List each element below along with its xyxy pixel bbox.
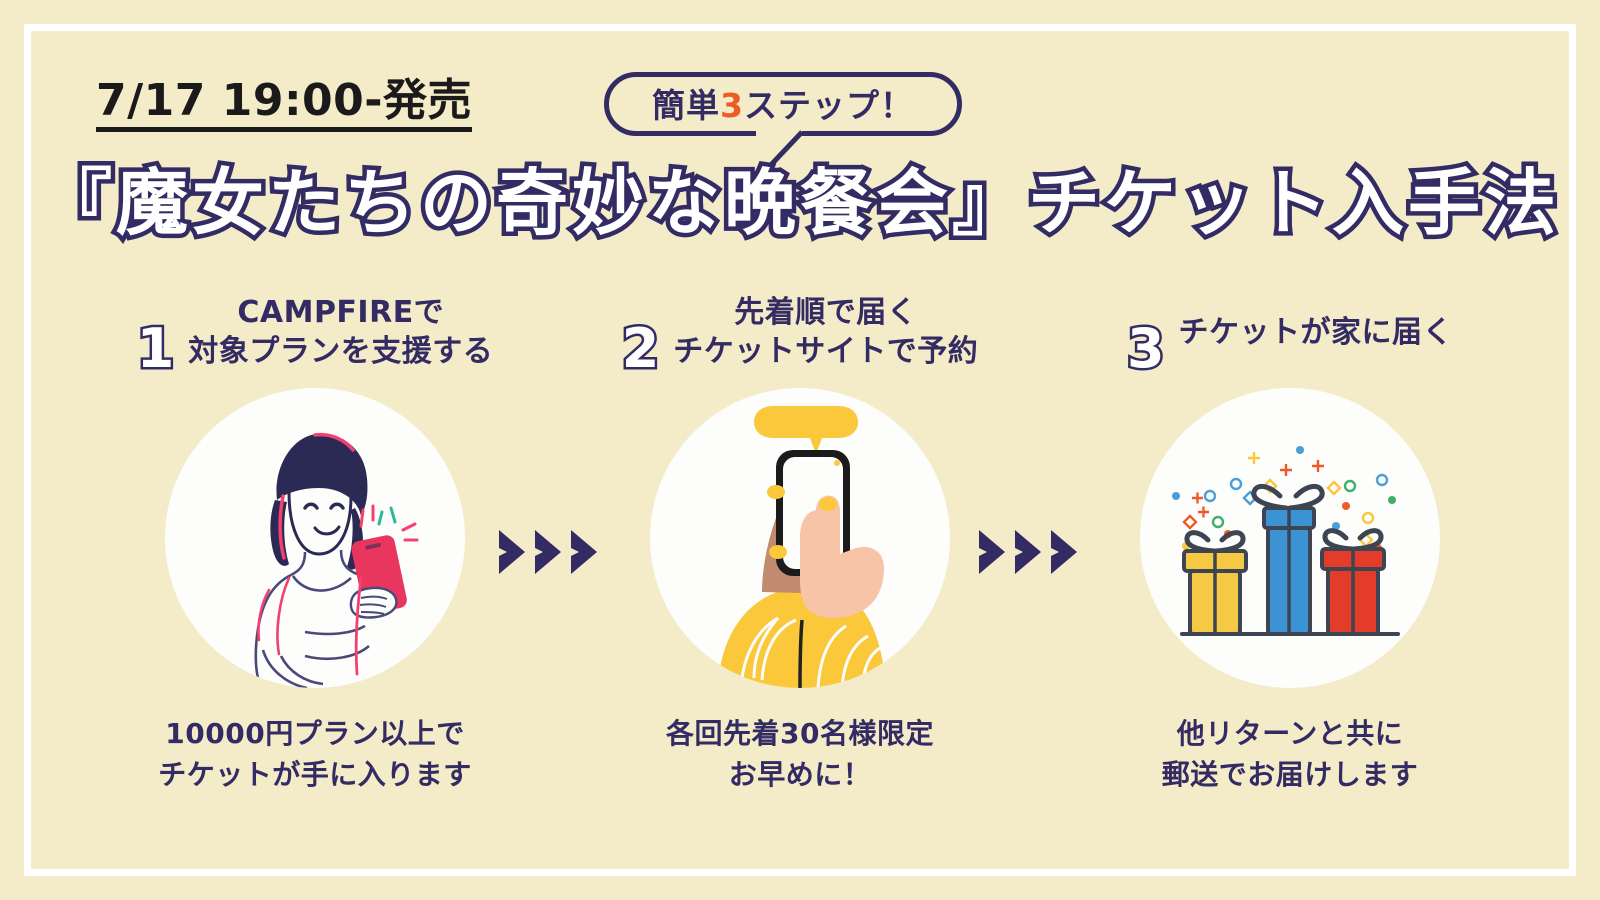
poster-canvas: 7/17 19:00-発売 簡単3ステップ！ 『魔女たちの奇妙な晩餐会』チケット… bbox=[0, 0, 1600, 900]
step-2-caption-line-2: お早めに！ bbox=[565, 755, 1035, 796]
easy-three-steps-bubble: 簡単3ステップ！ bbox=[604, 72, 962, 136]
gift-boxes-icon bbox=[1140, 388, 1440, 688]
step-2-number: 2 bbox=[622, 322, 660, 380]
step-2-title: 先着順で届く チケットサイトで予約 bbox=[673, 293, 978, 371]
step-3-caption: 他リターンと共に 郵送でお届けします bbox=[1055, 714, 1525, 795]
steps-row: 1 CAMPFIREで 対象プランを支援する bbox=[0, 284, 1600, 844]
step-card-3: 3 チケットが家に届く bbox=[1055, 284, 1525, 844]
step-3-illustration-circle bbox=[1140, 388, 1440, 688]
step-card-1: 1 CAMPFIREで 対象プランを支援する bbox=[80, 284, 550, 844]
step-1-number: 1 bbox=[137, 322, 175, 380]
step-2-illustration-circle bbox=[650, 388, 950, 688]
step-2-caption: 各回先着30名様限定 お早めに！ bbox=[565, 714, 1035, 795]
step-3-number: 3 bbox=[1127, 322, 1165, 380]
release-date-label: 7/17 19:00-発売 bbox=[96, 78, 472, 132]
step-1-title-line-2: 対象プランを支援する bbox=[188, 332, 493, 371]
chevron-right-triple-icon bbox=[495, 522, 605, 582]
step-2-caption-line-1: 各回先着30名様限定 bbox=[565, 714, 1035, 755]
step-1-head: 1 CAMPFIREで 対象プランを支援する bbox=[80, 284, 550, 380]
step-arrow-2-to-3 bbox=[975, 522, 1085, 582]
woman-with-smartphone-icon bbox=[165, 388, 465, 688]
step-1-caption-line-2: チケットが手に入ります bbox=[80, 755, 550, 796]
step-3-caption-line-2: 郵送でお届けします bbox=[1055, 755, 1525, 796]
bubble-accent-number: 3 bbox=[720, 86, 744, 125]
step-3-caption-line-1: 他リターンと共に bbox=[1055, 714, 1525, 755]
bubble-prefix: 簡単 bbox=[652, 86, 720, 125]
step-1-title-line-1: CAMPFIREで bbox=[188, 293, 493, 332]
step-1-caption: 10000円プラン以上で チケットが手に入ります bbox=[80, 714, 550, 795]
bubble-text: 簡単3ステップ！ bbox=[652, 79, 914, 127]
hand-tapping-phone-icon bbox=[650, 388, 950, 688]
step-card-2: 2 先着順で届く チケットサイトで予約 bbox=[565, 284, 1035, 844]
step-2-head: 2 先着順で届く チケットサイトで予約 bbox=[565, 284, 1035, 380]
step-1-illustration-circle bbox=[165, 388, 465, 688]
chevron-right-triple-icon bbox=[975, 522, 1085, 582]
step-1-title: CAMPFIREで 対象プランを支援する bbox=[188, 293, 493, 371]
step-3-title: チケットが家に届く bbox=[1179, 313, 1454, 352]
step-1-caption-line-1: 10000円プラン以上で bbox=[80, 714, 550, 755]
step-2-title-line-1: 先着順で届く bbox=[673, 293, 978, 332]
step-2-title-line-2: チケットサイトで予約 bbox=[673, 332, 978, 371]
bubble-suffix: ステップ！ bbox=[744, 86, 914, 125]
step-arrow-1-to-2 bbox=[495, 522, 605, 582]
page-title: 『魔女たちの奇妙な晩餐会』チケット入手法 bbox=[0, 164, 1600, 243]
step-3-head: 3 チケットが家に届く bbox=[1055, 284, 1525, 380]
step-3-title-line-1: チケットが家に届く bbox=[1179, 313, 1454, 352]
